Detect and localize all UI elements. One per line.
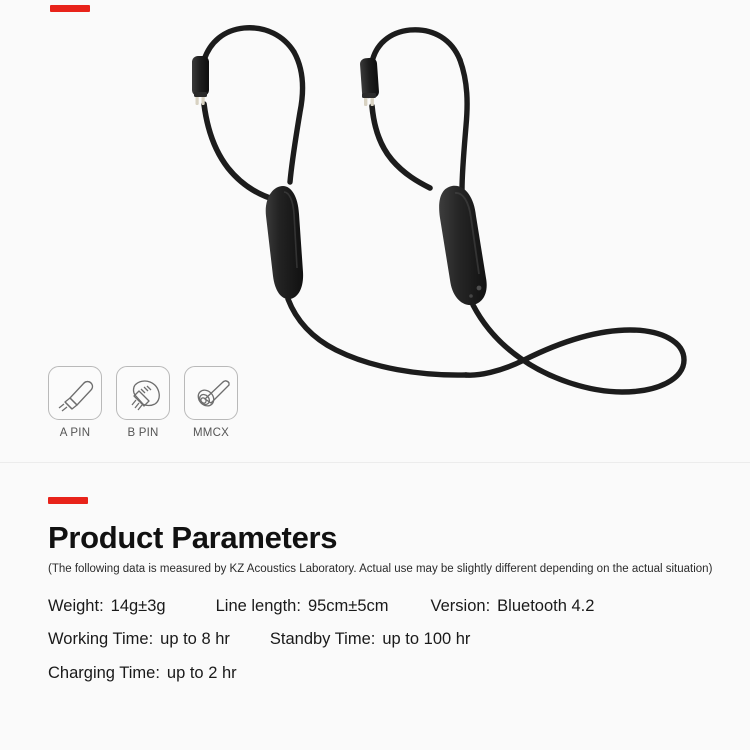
mmcx-icon-box <box>184 366 238 420</box>
spec-value: up to 8 hr <box>160 631 230 648</box>
spec-row: Charging Time:up to 2 hr <box>48 665 728 682</box>
b-pin-connector-icon <box>121 371 165 415</box>
spec-working-time: Working Time:up to 8 hr <box>48 631 230 648</box>
a-pin-connector-icon <box>53 371 97 415</box>
left-cable-path <box>204 28 302 200</box>
spec-value: up to 2 hr <box>167 665 237 682</box>
product-parameters-section: Product Parameters (The following data i… <box>48 520 728 698</box>
spec-key: Line length <box>216 598 297 615</box>
spec-value: Bluetooth 4.2 <box>497 598 594 615</box>
spec-row: Working Time:up to 8 hr Standby Time:up … <box>48 631 728 648</box>
spec-separator: : <box>99 598 111 615</box>
spec-row: Weight:14g±3g Line length:95cm±5cm Versi… <box>48 598 728 615</box>
a-pin-label: A PIN <box>60 427 90 439</box>
right-cable-path <box>372 30 467 190</box>
spec-value: up to 100 hr <box>382 631 470 648</box>
connector-icon-row: A PIN B PIN <box>48 366 238 439</box>
mmcx-connector-icon <box>189 371 233 415</box>
specification-list: Weight:14g±3g Line length:95cm±5cm Versi… <box>48 598 728 682</box>
spec-separator: : <box>486 598 498 615</box>
spec-value: 95cm±5cm <box>308 598 389 615</box>
b-pin-icon-box <box>116 366 170 420</box>
left-connector-plug <box>192 56 209 105</box>
page-title: Product Parameters <box>48 520 728 556</box>
spec-key: Weight <box>48 598 99 615</box>
spec-version: Version:Bluetooth 4.2 <box>431 598 595 615</box>
accent-bar-section <box>48 497 88 504</box>
connector-option-b-pin[interactable]: B PIN <box>116 366 170 439</box>
product-detail-page: A PIN B PIN <box>0 0 750 750</box>
a-pin-icon-box <box>48 366 102 420</box>
spec-value: 14g±3g <box>111 598 166 615</box>
spec-key: Working Time <box>48 631 149 648</box>
spec-key: Standby Time <box>270 631 371 648</box>
spec-key: Charging Time <box>48 665 155 682</box>
spec-separator: : <box>371 631 383 648</box>
left-control-module <box>266 186 303 299</box>
section-divider <box>0 462 750 463</box>
spec-standby-time: Standby Time:up to 100 hr <box>270 631 471 648</box>
connector-option-mmcx[interactable]: MMCX <box>184 366 238 439</box>
b-pin-label: B PIN <box>127 427 158 439</box>
left-lower-cable <box>288 299 466 375</box>
spec-separator: : <box>149 631 161 648</box>
spec-charging-time: Charging Time:up to 2 hr <box>48 665 237 682</box>
connector-option-a-pin[interactable]: A PIN <box>48 366 102 439</box>
parameters-note: (The following data is measured by KZ Ac… <box>48 562 728 577</box>
cable-loop <box>466 305 684 392</box>
spec-separator: : <box>155 665 167 682</box>
mmcx-label: MMCX <box>193 427 229 439</box>
spec-key: Version <box>431 598 486 615</box>
right-connector-plug <box>360 57 380 106</box>
spec-separator: : <box>296 598 308 615</box>
right-battery-module <box>439 186 487 305</box>
spec-line-length: Line length:95cm±5cm <box>216 598 389 615</box>
spec-weight: Weight:14g±3g <box>48 598 166 615</box>
